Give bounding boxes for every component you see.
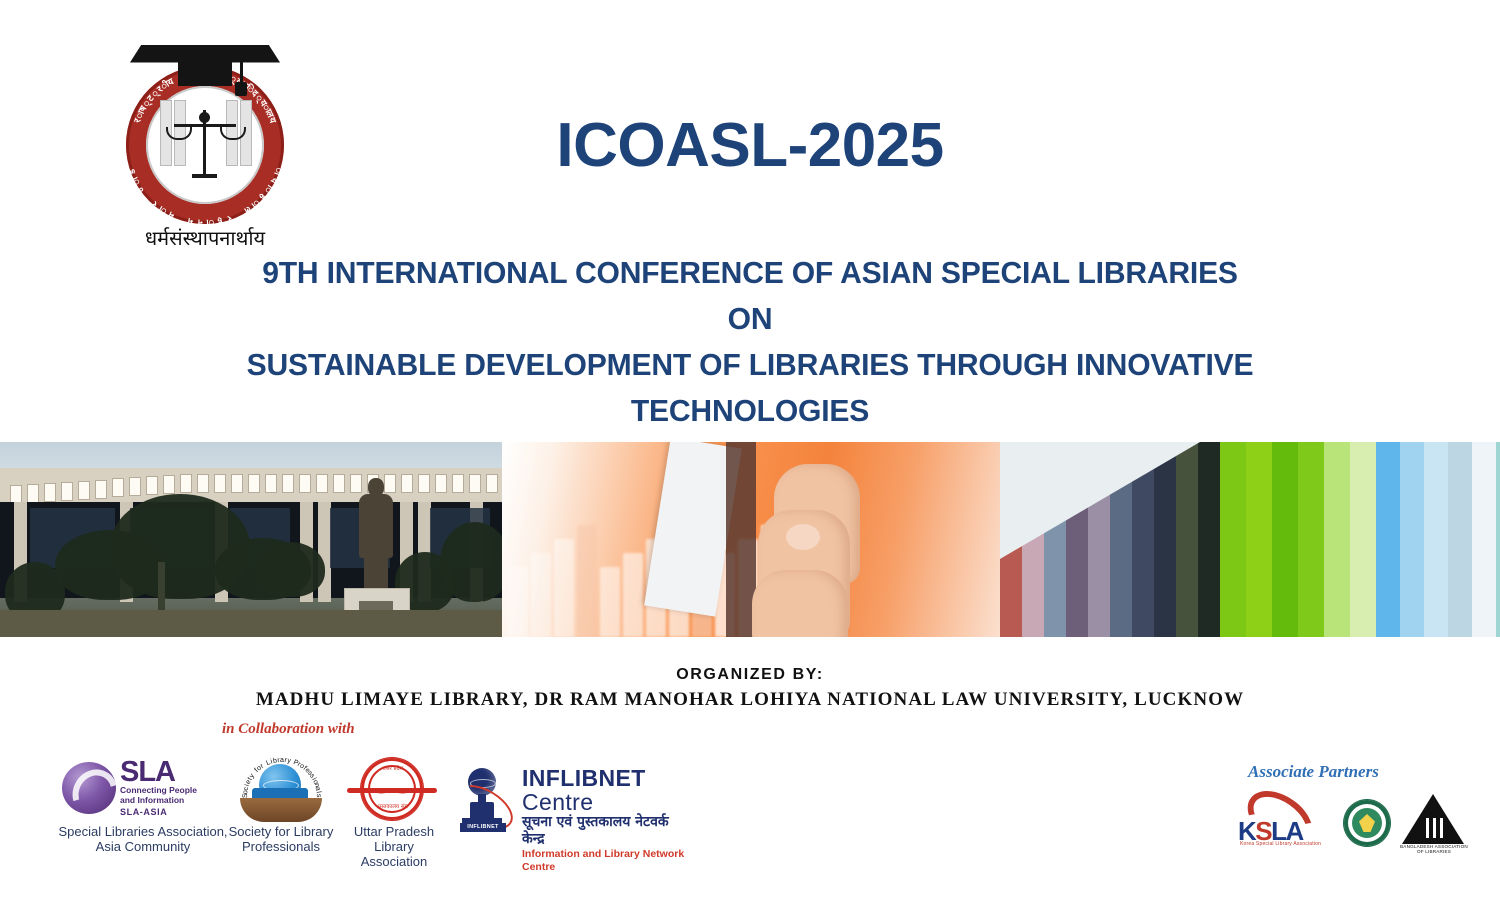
sla-region-label: SLA-ASIA (120, 807, 197, 817)
seal-motto: धर्मसंस्थापनार्थाय (102, 224, 308, 251)
sla-tagline-2: and Information (120, 796, 197, 806)
conference-subtitle: 9TH INTERNATIONAL CONFERENCE OF ASIAN SP… (110, 250, 1390, 434)
sla-caption-2: Asia Community (48, 839, 238, 854)
hand-globe-icon: Society for Library Professionals (222, 754, 340, 822)
slp-caption-2: Professionals (222, 839, 340, 854)
hand-illustration (752, 452, 962, 637)
banner-image-strip (0, 442, 1500, 637)
inflibnet-title-bold: INFLIBNET (522, 765, 646, 791)
upla-caption-2: Association (335, 854, 453, 869)
partner-logo-society-for-library-professionals[interactable]: Society for Library Professionals Societ… (222, 754, 340, 854)
inflibnet-title-light: Centre (522, 789, 593, 815)
inflibnet-title-english: Information and Library Network Centre (522, 848, 692, 874)
partner-logo-sla-asia[interactable]: SLA Connecting People and Information SL… (48, 760, 238, 854)
inflibnet-mark-label: INFLIBNET (460, 823, 506, 832)
associate-partners-title: Associate Partners (1248, 762, 1379, 782)
statue-figure (356, 478, 396, 588)
inflibnet-title-hindi: सूचना एवं पुस्तकालय नेटवर्क केन्द्र (522, 814, 692, 848)
upla-seal-icon: उत्तर प्रदेश पुस्तकालय संघ (335, 758, 453, 820)
triangle-emblem-subtitle: BANGLADESH ASSOCIATION OF LIBRARIES (1400, 844, 1468, 854)
upla-caption-1: Uttar Pradesh Library (335, 824, 453, 854)
page-title: ICOASL-2025 (0, 110, 1500, 181)
associate-logo-ksla[interactable]: KSLA Korea Special Library Association (1238, 796, 1334, 852)
subtitle-line-4: TECHNOLOGIES (110, 388, 1390, 434)
sla-wordmark: SLA (120, 758, 197, 786)
partner-logo-uttar-pradesh-library-association[interactable]: उत्तर प्रदेश पुस्तकालय संघ Uttar Pradesh… (335, 758, 453, 869)
associate-logo-green-seal-emblem[interactable] (1344, 800, 1390, 846)
campus-photo (0, 442, 502, 637)
collaboration-label: in Collaboration with (222, 721, 355, 738)
graduation-cap-icon (136, 32, 276, 88)
hand-book-photo (502, 442, 1000, 637)
sla-caption-1: Special Libraries Association, (48, 824, 238, 839)
upla-seal-top-text: उत्तर प्रदेश (375, 764, 411, 772)
subtitle-line-2: ON (110, 296, 1390, 342)
associate-logo-triangle-library-emblem[interactable]: BANGLADESH ASSOCIATION OF LIBRARIES (1402, 794, 1466, 852)
organizer-institution: MADHU LIMAYE LIBRARY, DR RAM MANOHAR LOH… (0, 689, 1500, 711)
associate-partner-logo-row: KSLA Korea Special Library Association B… (1232, 792, 1472, 862)
sla-sphere-icon: SLA Connecting People and Information SL… (48, 760, 238, 816)
book-spines-photo (1000, 442, 1500, 637)
conference-banner-page: राष्ट्रीय विधि विश्वविद्यालयडा० राम मनोह… (0, 0, 1500, 900)
slp-caption-1: Society for Library (222, 824, 340, 839)
upla-seal-bottom-text: पुस्तकालय संघ (373, 802, 413, 810)
subtitle-line-3: SUSTAINABLE DEVELOPMENT OF LIBRARIES THR… (110, 342, 1390, 388)
ksla-subtitle: Korea Special Library Association (1240, 841, 1321, 847)
inflibnet-globe-pillar-icon: INFLIBNET (452, 768, 518, 832)
subtitle-line-1: 9TH INTERNATIONAL CONFERENCE OF ASIAN SP… (110, 250, 1390, 296)
organized-by-label: ORGANIZED BY: (0, 666, 1500, 684)
